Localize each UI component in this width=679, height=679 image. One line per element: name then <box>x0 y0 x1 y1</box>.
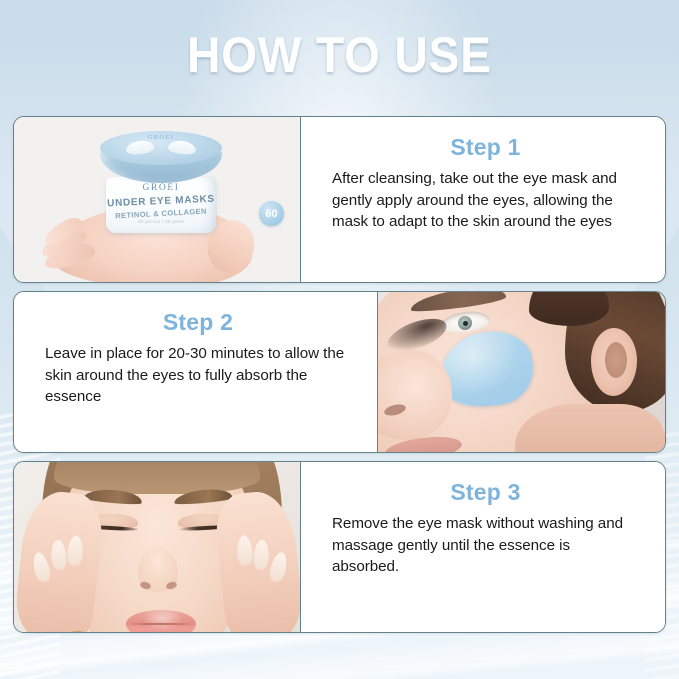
jar-lid-brand: GROEI <box>100 134 222 141</box>
fingernail <box>253 539 270 570</box>
step-2-body: Leave in place for 20-30 minutes to allo… <box>45 343 351 408</box>
step-2-heading: Step 2 <box>45 309 351 336</box>
lip-line <box>126 623 196 625</box>
step-3-text: Step 3 Remove the eye mask without washi… <box>301 462 665 632</box>
massage-photo <box>14 462 300 632</box>
page-title: HOW TO USE <box>27 27 652 83</box>
pupil <box>463 321 468 326</box>
product-brand: GROEI <box>106 183 216 193</box>
step-row-3: Step 3 Remove the eye mask without washi… <box>13 461 666 633</box>
fingernail <box>236 535 253 566</box>
eye-patch-photo <box>378 292 665 452</box>
step-1-text: Step 1 After cleansing, take out the eye… <box>301 117 665 282</box>
jar-lid-subtitle: UNDER EYE MASKS <box>100 157 222 162</box>
step-2-image <box>377 292 665 452</box>
product-jar-illustration: GROEI UNDER EYE MASKS GROEI UNDER EYE MA… <box>14 117 300 282</box>
product-count-badge: 60 <box>259 201 284 226</box>
step-row-2: Step 2 Leave in place for 20-30 minutes … <box>13 291 666 453</box>
fingernail <box>67 535 84 566</box>
step-2-text: Step 2 Leave in place for 20-30 minutes … <box>14 292 377 452</box>
step-3-body: Remove the eye mask without washing and … <box>332 513 639 578</box>
step-1-body: After cleansing, take out the eye mask a… <box>332 168 639 233</box>
fingernail <box>30 551 52 584</box>
product-fine-print: 60 pieces / 30 pairs <box>106 219 216 224</box>
step-1-image: GROEI UNDER EYE MASKS GROEI UNDER EYE MA… <box>14 117 301 282</box>
step-3-heading: Step 3 <box>332 479 639 506</box>
ear-inner <box>605 342 627 378</box>
ring <box>64 629 85 632</box>
step-row-1: GROEI UNDER EYE MASKS GROEI UNDER EYE MA… <box>13 116 666 283</box>
step-3-image <box>14 462 301 632</box>
fingernail <box>268 551 290 584</box>
hair-top <box>54 462 260 494</box>
step-1-heading: Step 1 <box>332 134 639 161</box>
fingernail <box>50 539 67 570</box>
lips <box>126 610 196 632</box>
